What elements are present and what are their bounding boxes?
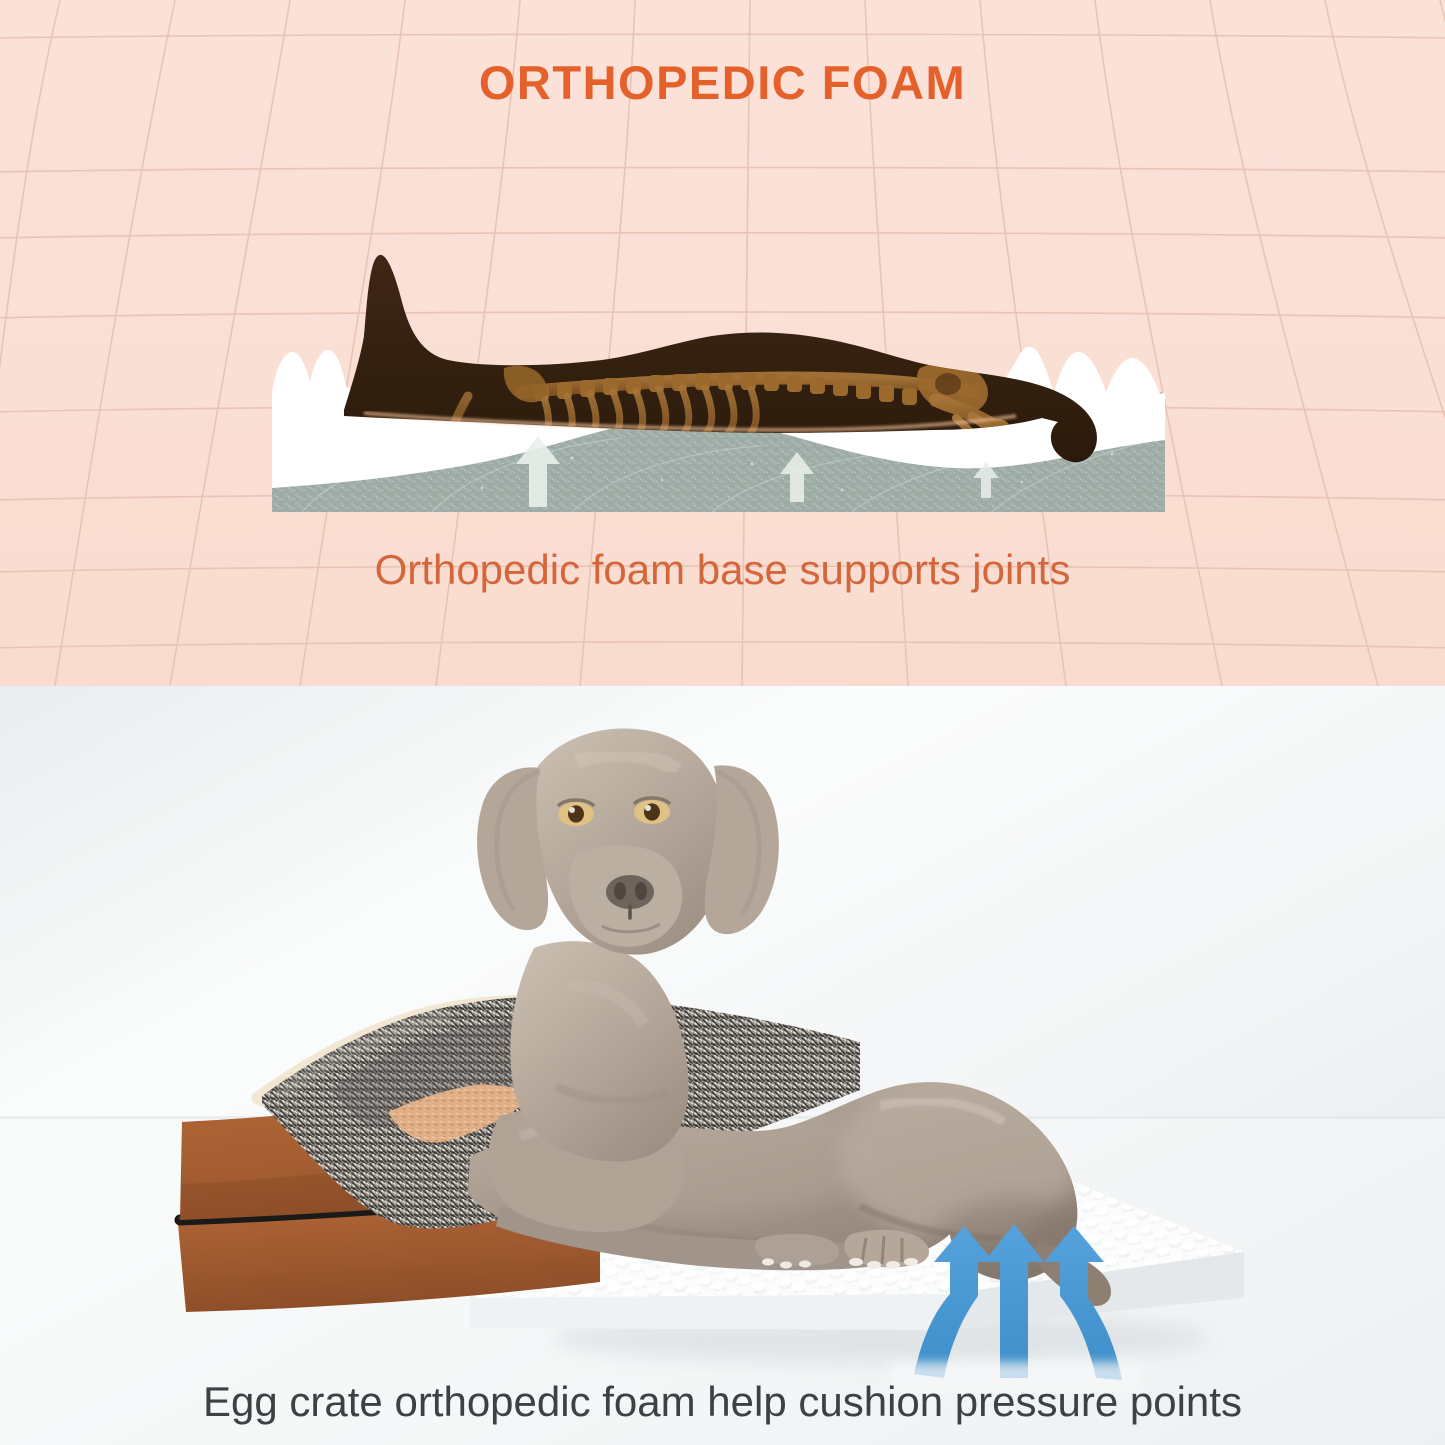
top-panel-orthopedic-foam-diagram: ORTHOPEDIC FOAM <box>0 0 1445 686</box>
orthopedic-foam-cross-section-diagram <box>272 240 1165 530</box>
top-panel-caption: Orthopedic foam base supports joints <box>0 546 1445 594</box>
dog-on-orthopedic-bed-photo <box>0 686 1445 1445</box>
page-title: ORTHOPEDIC FOAM <box>0 55 1445 110</box>
infographic-page: ORTHOPEDIC FOAM <box>0 0 1445 1445</box>
bottom-panel-product-photo <box>0 686 1445 1445</box>
bottom-panel-caption: Egg crate orthopedic foam help cushion p… <box>0 1378 1445 1426</box>
